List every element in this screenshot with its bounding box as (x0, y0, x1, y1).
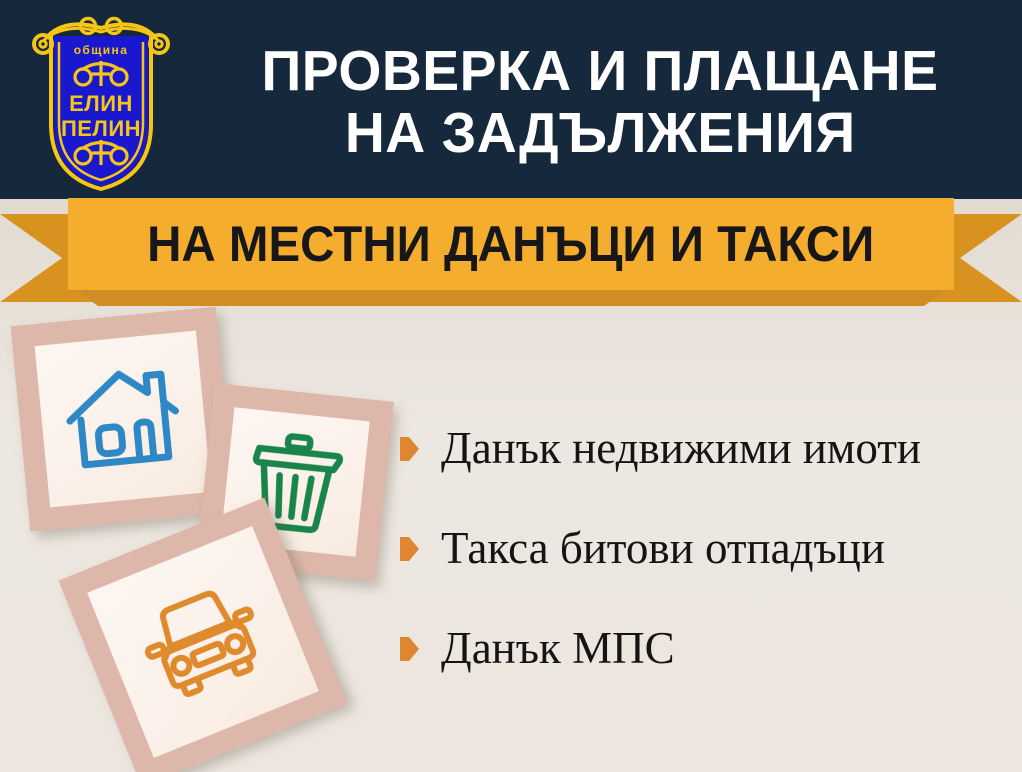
bullet-arrow-icon (400, 537, 419, 561)
crest-name-line-2: ПЕЛИН (61, 116, 141, 141)
stamp-paper (35, 331, 212, 508)
list-item-label: Данък недвижими имоти (441, 424, 921, 472)
list-item: Данък МПС (400, 624, 1015, 672)
title-line-1: ПРОВЕРКА И ПЛАЩАНЕ (262, 40, 939, 102)
house-icon (59, 359, 187, 480)
header-bar: община ЕЛИН ПЕЛИН ПРОВЕРКА И ПЛАЩАНЕ НА … (0, 0, 1022, 199)
coat-of-arms-shield-icon: община ЕЛИН ПЕЛИН (26, 6, 176, 191)
crest-municipality-label: община (74, 43, 129, 57)
ribbon-banner: НА МЕСТНИ ДАНЪЦИ И ТАКСИ (68, 198, 954, 290)
list-item: Данък недвижими имоти (400, 424, 1015, 472)
list-item: Такса битови отпадъци (400, 524, 1015, 572)
car-front-icon (130, 575, 275, 708)
poster-canvas: община ЕЛИН ПЕЛИН ПРОВЕРКА И ПЛАЩАНЕ НА … (0, 0, 1022, 772)
bullet-arrow-icon (400, 637, 419, 661)
bullet-arrow-icon (400, 437, 419, 461)
page-title: ПРОВЕРКА И ПЛАЩАНЕ НА ЗАДЪЛЖЕНИЯ (190, 14, 1010, 189)
subtitle-ribbon: НА МЕСТНИ ДАНЪЦИ И ТАКСИ (0, 198, 1022, 308)
ribbon-label: НА МЕСТНИ ДАНЪЦИ И ТАКСИ (147, 218, 874, 270)
stamp-card-house (11, 307, 236, 532)
crest-name-line-1: ЕЛИН (69, 91, 133, 116)
list-item-label: Данък МПС (441, 624, 675, 672)
list-item-label: Такса битови отпадъци (441, 524, 885, 572)
tax-type-list: Данък недвижими имоти Такса битови отпад… (400, 424, 1015, 724)
title-line-2: НА ЗАДЪЛЖЕНИЯ (345, 102, 856, 164)
